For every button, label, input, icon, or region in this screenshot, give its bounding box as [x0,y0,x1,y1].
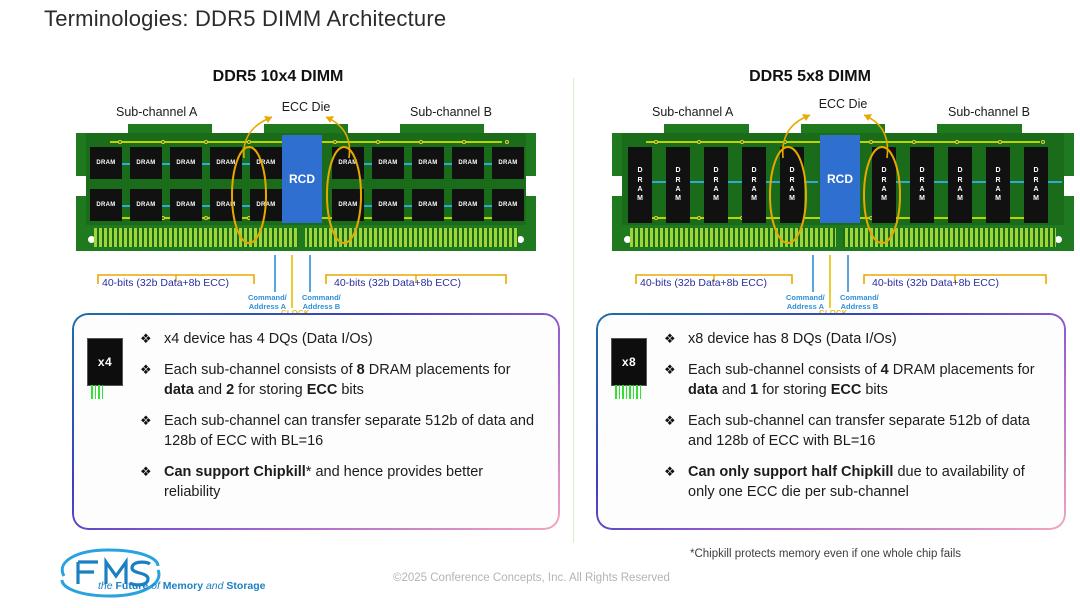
pcb-side-tab-right [526,176,536,196]
trace-via [419,140,423,144]
dram-chip-label-char: M [1033,194,1039,203]
bullet-text: and [194,382,226,398]
dram-chip-label-char: R [675,176,680,185]
device-chip-body: x8 [612,339,646,385]
trace-via [740,140,744,144]
device-pin [91,385,93,399]
command-address-a-line1: Command/ [786,293,825,302]
dram-chip-label-char: R [995,176,1000,185]
dram-chip-label: DRAM [96,160,115,166]
dram-interconnect-trace [122,163,130,165]
bullet-text: for storing [758,382,831,398]
bullet-item: ❖Each sub-channel consists of 8 DRAM pla… [138,360,542,400]
trace-via [247,140,251,144]
gold-finger-connector [94,228,518,247]
pcb-notch [885,124,937,133]
ecc-die-label: ECC Die [819,97,868,111]
pcb-top-notches [76,124,536,133]
subchannel-a-label: Sub-channel A [116,105,197,119]
dram-chip-label-char: A [919,185,924,194]
dram-interconnect-trace [804,181,818,183]
gold-finger-connector [630,228,1056,247]
bullet-diamond-icon: ❖ [140,412,152,430]
dimm-pcb: DRAMDRAMDRAMDRAMDRAMDRAMDRAMDRAMDRAMDRAM… [76,124,536,251]
dram-interconnect-trace [1010,181,1024,183]
dram-interconnect-trace [404,205,412,207]
bullet-item: ❖Each sub-channel consists of 4 DRAM pla… [662,360,1048,400]
dram-chip: DRAM [372,189,404,221]
dram-chip-label-char: M [751,194,757,203]
dram-chip-label-char: R [1033,176,1038,185]
dram-chip: DRAM [412,189,444,221]
bullet-text: Each sub-channel can transfer separate 5… [164,413,534,449]
bits-label-subchannel-a: 40-bits (32b Data+8b ECC) [102,277,229,289]
trace-via [204,140,208,144]
dram-chip-label-char: D [751,166,756,175]
trace-via [1041,140,1045,144]
pcb-notch [76,124,128,133]
dram-chip-label-char: D [957,166,962,175]
device-pin [95,385,97,399]
dram-chip-label-char: M [957,194,963,203]
dram-chip-label-char: M [637,194,643,203]
bullet-item: ❖Can support Chipkill* and hence provide… [138,462,542,502]
dram-chip: DRAM [170,147,202,179]
dram-chip: DRAM [130,189,162,221]
dram-chip: DRAM [704,147,728,223]
fms-tagline: the Future of Memory and Storage [98,580,266,592]
bullet-text-emphasis: data [688,382,718,398]
dram-chip-label-char: D [1033,166,1038,175]
dram-interconnect-trace [766,181,780,183]
dram-chip-label-char: A [637,185,642,194]
dram-chip-label-char: D [637,166,642,175]
bullet-text-emphasis: 1 [750,382,758,398]
trace-via [912,140,916,144]
trace-via [161,140,165,144]
command-address-b-line1: Command/ [302,293,341,302]
dram-chip-label-char: M [881,194,887,203]
dram-chip-label-char: M [919,194,925,203]
dram-chip-label: DRAM [216,202,235,208]
dram-chip: DRAM [492,189,524,221]
dram-chip-label: DRAM [418,202,437,208]
trace-via [783,140,787,144]
bullet-diamond-icon: ❖ [664,463,676,481]
ecc-leader-arrow-b [864,114,872,121]
bullet-diamond-icon: ❖ [140,330,152,348]
dram-interconnect-trace [896,181,910,183]
dram-chip-label: DRAM [378,160,397,166]
dram-chip: DRAM [130,147,162,179]
pcb-side-tab-left [612,176,622,196]
dram-interconnect-trace [364,205,372,207]
dram-chip: DRAM [250,147,282,179]
trace-via [376,140,380,144]
dram-chip-label: DRAM [96,202,115,208]
bits-label-subchannel-a: 40-bits (32b Data+8b ECC) [640,277,767,289]
panel-ddr5-5x8: DDR5 5x8 DIMM Sub-channel A ECC Die Sub-… [540,0,1080,608]
connector-key-notch [836,228,843,247]
dram-chip-label-char: A [789,185,794,194]
dram-chip-label-char: A [995,185,1000,194]
dram-chip: DRAM [452,147,484,179]
device-icon-x8: x8 [612,329,652,502]
bullet-text: DRAM placements for [365,362,511,378]
dram-chip-label: DRAM [256,202,275,208]
dram-chip: DRAM [780,147,804,223]
dram-chip-label-char: D [675,166,680,175]
fms-tagline-part: of [148,580,163,592]
dram-chip: DRAM [332,189,364,221]
dimm-pcb: DRAMDRAMDRAMDRAMDRAMDRAMDRAMDRAMDRAMDRAM… [612,124,1074,251]
dram-chip-label: DRAM [216,160,235,166]
trace-via [654,216,658,220]
device-pin [640,385,642,399]
bullet-diamond-icon: ❖ [664,330,676,348]
dram-chip: DRAM [90,189,122,221]
dram-chip: DRAM [452,189,484,221]
fms-tagline-part: Memory [163,580,203,592]
trace-via [697,140,701,144]
dram-chip-label-char: A [751,185,756,194]
dram-interconnect-trace [242,205,250,207]
device-pin [636,385,638,399]
device-pin [98,385,100,399]
device-pin [619,385,621,399]
dram-interconnect-trace [162,163,170,165]
bullet-item: ❖Can only support half Chipkill due to a… [662,462,1048,502]
dram-chip-label-char: R [751,176,756,185]
pcb-top-notches [612,124,1074,133]
pcb-notch [212,124,264,133]
dram-chip-label-char: D [713,166,718,175]
dram-chip: DRAM [250,189,282,221]
dram-chip: DRAM [910,147,934,223]
dram-chip-label-char: M [789,194,795,203]
bullet-box-x8: x8 ❖x8 device has 8 DQs (Data I/Os)❖Each… [598,315,1064,528]
dram-chip-label-char: R [713,176,718,185]
connector-key-notch [298,228,305,247]
trace-via [955,140,959,144]
subchannel-a-label: Sub-channel A [652,105,733,119]
device-icon-x4: x4 [88,329,128,502]
bullet-text-emphasis: 4 [881,362,889,378]
trace-via [204,216,208,220]
dram-chip-label-char: R [957,176,962,185]
dram-chip-label-char: A [675,185,680,194]
dram-chip-label: DRAM [498,202,517,208]
dram-interconnect-trace [364,163,372,165]
bullet-list-x8: ❖x8 device has 8 DQs (Data I/Os)❖Each su… [662,329,1048,502]
dram-chip: DRAM [210,147,242,179]
pcb-side-tab-right [1064,176,1074,196]
device-pin [633,385,635,399]
dram-chip: DRAM [872,147,896,223]
trace-via [118,140,122,144]
dram-chip-label: DRAM [136,160,155,166]
bullet-text-emphasis: ECC [831,382,862,398]
dram-chip: DRAM [742,147,766,223]
dram-interconnect-trace [202,163,210,165]
subchannel-b-label: Sub-channel B [948,105,1030,119]
device-pin [626,385,628,399]
dram-chip-label: DRAM [256,160,275,166]
fms-tagline-part: the [98,580,116,592]
subchannel-b-label: Sub-channel B [410,105,492,119]
bullet-diamond-icon: ❖ [664,412,676,430]
bullet-text-emphasis: data [164,382,194,398]
bullet-text-emphasis: 8 [357,362,365,378]
dram-chip-label-char: D [919,166,924,175]
trace-via [654,140,658,144]
dram-interconnect-trace [122,205,130,207]
dram-interconnect-trace [484,205,492,207]
device-pin [102,385,104,399]
pcb-notch [484,124,536,133]
dram-chip-label-char: A [713,185,718,194]
dram-chip: DRAM [948,147,972,223]
dram-chip-label: DRAM [458,160,477,166]
dram-chip: DRAM [170,189,202,221]
dram-chip: DRAM [332,147,364,179]
copyright-text: ©2025 Conference Concepts, Inc. All Righ… [393,572,670,584]
bullet-text: DRAM placements for [889,362,1035,378]
dram-chip-label: DRAM [418,160,437,166]
device-pins [612,385,652,399]
bullet-text: for storing [234,382,307,398]
dram-interconnect-trace [162,205,170,207]
dram-chip-label-char: D [789,166,794,175]
dram-chip-label: DRAM [176,160,195,166]
pcb-side-tab-left [76,176,86,196]
dram-interconnect-trace [972,181,986,183]
dram-chip-label-char: R [789,176,794,185]
rcd-label: RCD [827,172,853,186]
pcb-notch [348,124,400,133]
trace-via [462,140,466,144]
dram-chip-label-char: D [881,166,886,175]
dram-chip-label: DRAM [458,202,477,208]
pcb-hole [517,236,524,243]
bullet-diamond-icon: ❖ [140,361,152,379]
panel-title-left: DDR5 10x4 DIMM [8,68,548,86]
bullet-text: Each sub-channel consists of [688,362,881,378]
dram-interconnect-trace [444,205,452,207]
dram-chip: DRAM [492,147,524,179]
pcb-notch [1022,124,1074,133]
ecc-die-label: ECC Die [282,100,331,114]
dram-chip-label-char: R [637,176,642,185]
bullet-item: ❖Each sub-channel can transfer separate … [662,411,1048,451]
dram-chip-label: DRAM [498,160,517,166]
rcd-chip: RCD [820,135,860,223]
trace-via [333,140,337,144]
dram-interconnect-trace [484,163,492,165]
bullet-text: bits [861,382,888,398]
rcd-label: RCD [289,172,315,186]
bullet-list-x4: ❖x4 device has 4 DQs (Data I/Os)❖Each su… [138,329,542,502]
bullet-text-emphasis: ECC [307,382,338,398]
dram-chip: DRAM [372,147,404,179]
bullet-diamond-icon: ❖ [664,361,676,379]
dram-chip-label: DRAM [136,202,155,208]
dram-interconnect-trace [652,181,666,183]
fms-tagline-part: Storage [226,580,265,592]
ecc-leader-arrow-b [326,116,334,123]
dram-chip-label-char: A [1033,185,1038,194]
bullet-item: ❖x4 device has 4 DQs (Data I/Os) [138,329,542,349]
dram-interconnect-trace [444,163,452,165]
device-pins [88,385,128,399]
bullet-text: bits [337,382,364,398]
dram-chip-label-char: M [995,194,1001,203]
fms-tagline-part: and [203,580,226,592]
dram-interconnect-trace [728,181,742,183]
bullet-text-emphasis: Can only support half Chipkill [688,464,893,480]
trace-via [869,140,873,144]
bullet-item: ❖x8 device has 8 DQs (Data I/Os) [662,329,1048,349]
pcb-inner: DRAMDRAMDRAMDRAMDRAMDRAMDRAMDRAMDRAMDRAM… [86,133,526,225]
device-chip-body: x4 [88,339,122,385]
bullet-text-emphasis: 2 [226,382,234,398]
bullet-box-x4: x4 ❖x4 device has 4 DQs (Data I/Os)❖Each… [74,315,558,528]
dram-chip: DRAM [666,147,690,223]
dram-chip-label-char: M [675,194,681,203]
device-pin [615,385,617,399]
dram-interconnect-trace [934,181,948,183]
trace-via [998,140,1002,144]
chipkill-footnote: *Chipkill protects memory even if one wh… [690,548,961,560]
dram-interconnect-trace [1048,181,1062,183]
command-address-b-line1: Command/ [840,293,879,302]
dram-chip-label-char: A [957,185,962,194]
dram-chip-label-char: D [995,166,1000,175]
bullet-diamond-icon: ❖ [140,463,152,481]
bullet-text: Each sub-channel can transfer separate 5… [688,413,1030,449]
trace-via [697,216,701,220]
bullet-text: x8 device has 8 DQs (Data I/Os) [688,331,897,347]
bullet-text: and [718,382,750,398]
pcb-notch [749,124,801,133]
bullet-text: x4 device has 4 DQs (Data I/Os) [164,331,373,347]
pcb-notch [612,124,664,133]
command-address-a-line1: Command/ [248,293,287,302]
device-pin [629,385,631,399]
bullet-text: Each sub-channel consists of [164,362,357,378]
dram-chip-label-char: M [713,194,719,203]
pcb-hole [1055,236,1062,243]
bits-label-subchannel-b: 40-bits (32b Data+8b ECC) [872,277,999,289]
dimm-diagram-10x4: Sub-channel A ECC Die Sub-channel B DRAM… [76,100,536,315]
bullet-text-emphasis: Can support Chipkill [164,464,306,480]
dram-chip: DRAM [628,147,652,223]
dram-interconnect-trace [242,163,250,165]
dram-interconnect-trace [690,181,704,183]
dimm-diagram-5x8: Sub-channel A ECC Die Sub-channel B DRAM… [612,100,1074,315]
dram-chip: DRAM [90,147,122,179]
ecc-leader-arrow-a [802,114,810,121]
dram-chip-label-char: A [881,185,886,194]
dram-chip-label-char: R [881,176,886,185]
bits-label-subchannel-b: 40-bits (32b Data+8b ECC) [334,277,461,289]
panel-title-right: DDR5 5x8 DIMM [540,68,1080,86]
rcd-chip: RCD [282,135,322,223]
dram-chip-label: DRAM [176,202,195,208]
dram-chip-label-char: R [919,176,924,185]
ecc-leader-arrow-a [264,116,272,123]
dram-chip: DRAM [412,147,444,179]
panel-ddr5-10x4: DDR5 10x4 DIMM Sub-channel A ECC Die Sub… [0,0,540,608]
trace-via [505,140,509,144]
dram-chip: DRAM [210,189,242,221]
dram-chip: DRAM [986,147,1010,223]
device-pin [622,385,624,399]
dram-chip-label: DRAM [338,202,357,208]
dram-chip: DRAM [1024,147,1048,223]
dram-interconnect-trace [404,163,412,165]
bullet-item: ❖Each sub-channel can transfer separate … [138,411,542,451]
fms-tagline-part: Future [116,580,149,592]
dram-interconnect-trace [202,205,210,207]
dram-chip-label: DRAM [378,202,397,208]
pcb-inner: DRAMDRAMDRAMDRAMDRAMDRAMDRAMDRAMDRAMDRAM… [622,133,1064,225]
dram-chip-label: DRAM [338,160,357,166]
